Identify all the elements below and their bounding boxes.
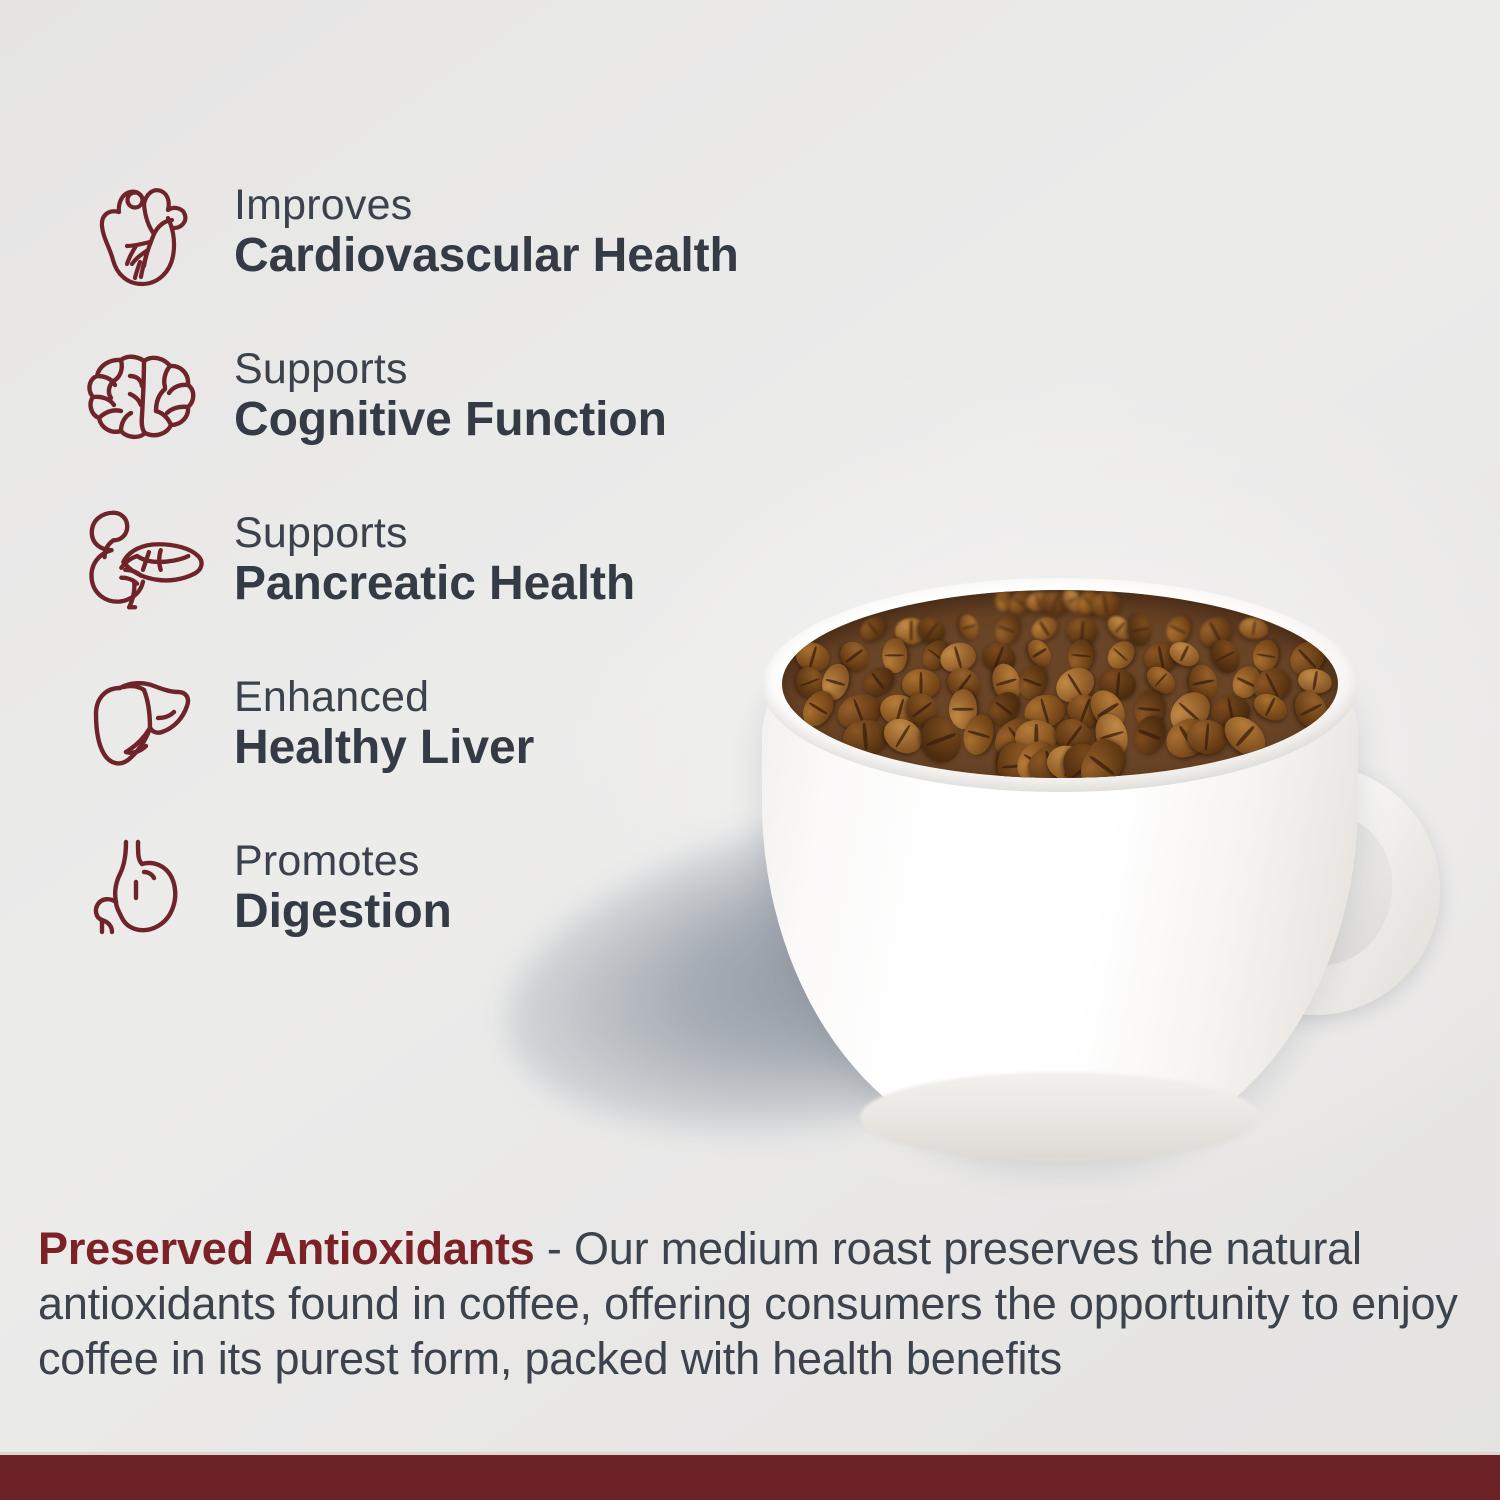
stomach-icon	[78, 828, 206, 948]
benefit-main: Cardiovascular Health	[234, 232, 739, 280]
benefit-item-cognitive: Supports Cognitive Function	[78, 314, 938, 478]
benefit-lead: Improves	[234, 184, 739, 227]
benefit-text-cardiovascular: Improves Cardiovascular Health	[234, 184, 739, 280]
coffee-bean	[1129, 712, 1170, 759]
infographic-canvas: Improves Cardiovascular Health	[0, 0, 1500, 1500]
coffee-bean	[957, 612, 982, 642]
coffee-cup-photo	[490, 560, 1500, 1220]
benefit-item-cardiovascular: Improves Cardiovascular Health	[78, 150, 938, 314]
benefit-lead: Promotes	[234, 840, 452, 883]
benefit-lead: Supports	[234, 348, 667, 391]
benefit-main: Cognitive Function	[234, 396, 667, 444]
bottom-brand-bar	[0, 1455, 1500, 1500]
benefit-lead: Supports	[234, 512, 635, 555]
benefit-main: Digestion	[234, 888, 452, 936]
brain-icon	[78, 336, 206, 456]
heart-icon	[78, 172, 206, 292]
coffee-beans	[782, 590, 1338, 778]
cup-foot	[860, 1072, 1260, 1162]
copy-highlight: Preserved Antioxidants	[38, 1223, 535, 1274]
preserved-antioxidants-copy: Preserved Antioxidants - Our medium roas…	[38, 1222, 1458, 1387]
benefit-text-cognitive: Supports Cognitive Function	[234, 348, 667, 444]
liver-icon	[78, 664, 206, 784]
pancreas-icon	[78, 500, 206, 620]
benefit-text-digestion: Promotes Digestion	[234, 840, 452, 936]
